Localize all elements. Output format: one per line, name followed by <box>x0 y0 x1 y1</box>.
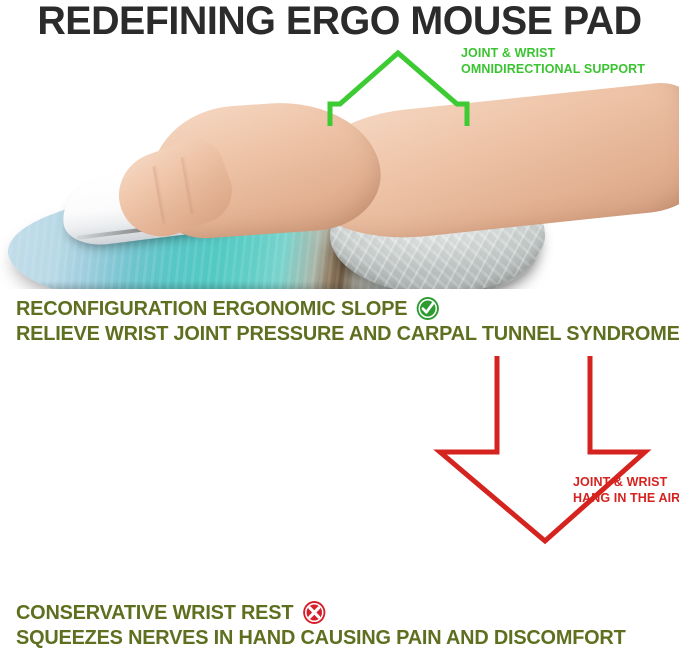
annotation-green-line2: OMNIDIRECTIONAL SUPPORT <box>461 61 645 77</box>
annotation-red-line1: JOINT & WRIST <box>573 474 679 490</box>
drawback-claim-block: CONSERVATIVE WRIST REST SQUEEZES NERVES … <box>16 600 644 650</box>
cross-circle-icon <box>302 600 326 625</box>
drawback-line-1: CONSERVATIVE WRIST REST <box>16 600 293 625</box>
benefit-line-1-row: RECONFIGURATION ERGONOMIC SLOPE <box>16 296 679 321</box>
page-title: REDEFINING ERGO MOUSE PAD <box>5 0 674 42</box>
annotation-red-line2: HANG IN THE AIR <box>573 490 679 506</box>
check-circle-icon <box>416 296 440 321</box>
drawback-line-1-row: CONSERVATIVE WRIST REST <box>16 600 626 625</box>
annotation-green: JOINT & WRIST OMNIDIRECTIONAL SUPPORT <box>461 45 645 77</box>
annotation-green-line1: JOINT & WRIST <box>461 45 645 61</box>
annotation-red: JOINT & WRIST HANG IN THE AIR <box>573 474 679 506</box>
benefit-claim-block: RECONFIGURATION ERGONOMIC SLOPE RELIEVE … <box>16 296 679 346</box>
scene-ergonomic-pad <box>0 44 679 289</box>
benefit-line-1: RECONFIGURATION ERGONOMIC SLOPE <box>16 296 407 321</box>
drawback-line-2: SQUEEZES NERVES IN HAND CAUSING PAIN AND… <box>16 625 626 650</box>
benefit-line-2: RELIEVE WRIST JOINT PRESSURE AND CARPAL … <box>16 321 679 346</box>
drawback-line-2-row: SQUEEZES NERVES IN HAND CAUSING PAIN AND… <box>16 625 626 650</box>
benefit-line-2-row: RELIEVE WRIST JOINT PRESSURE AND CARPAL … <box>16 321 679 346</box>
